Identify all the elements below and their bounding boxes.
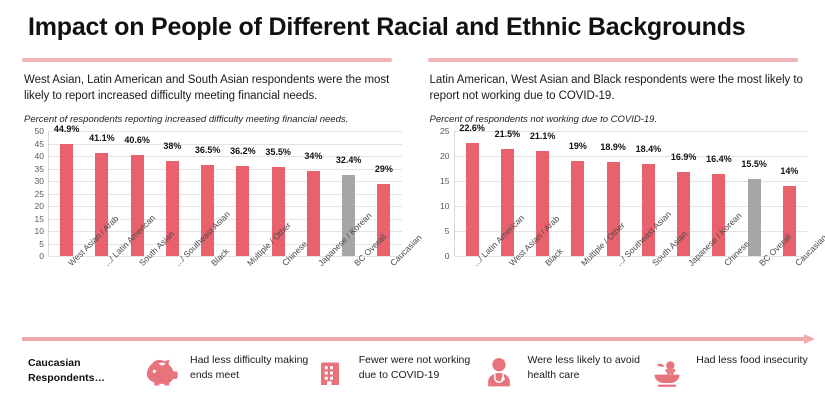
- bar-slot: 15.5%: [737, 131, 772, 256]
- y-axis-tick-right: 5: [445, 226, 450, 236]
- doctor-icon: [478, 352, 520, 394]
- arrow-line: [22, 337, 805, 341]
- bar-slot: 22.6%: [455, 131, 490, 256]
- bar-slot: 44.9%: [49, 131, 84, 256]
- x-label-slot: Latin American /...: [84, 256, 120, 318]
- page-title: Impact on People of Different Racial and…: [0, 0, 825, 42]
- y-axis-tick-left: 35: [35, 164, 44, 174]
- piggy-bank-icon: [140, 352, 182, 394]
- bar-value-label: 18.4%: [636, 144, 662, 154]
- x-label-slot: BC Overall: [740, 256, 776, 318]
- x-label-slot: West Asian / Arab: [489, 256, 525, 318]
- bar-value-label: 14%: [780, 166, 798, 176]
- bar-value-label: 36.5%: [195, 145, 221, 155]
- bar-value-label: 15.5%: [741, 159, 767, 169]
- footer-lead-label: Caucasian Respondents…: [28, 352, 140, 386]
- y-axis-tick-left: 0: [39, 251, 44, 261]
- bar-value-label: 34%: [304, 151, 322, 161]
- footer-item-text: Had less difficulty making ends meet: [190, 352, 309, 382]
- x-label-slot: South Asian: [120, 256, 156, 318]
- y-axis-tick-left: 15: [35, 214, 44, 224]
- bar-value-label: 38%: [163, 141, 181, 151]
- x-label-slot: Multiple / Other: [561, 256, 597, 318]
- arrow-head-icon: [804, 334, 815, 344]
- office-building-icon: [309, 352, 351, 394]
- panel-financial-difficulty: West Asian, Latin American and South Asi…: [14, 58, 406, 319]
- bar[interactable]: [307, 171, 320, 256]
- y-axis-tick-left: 30: [35, 176, 44, 186]
- y-axis-tick-right: 0: [445, 251, 450, 261]
- x-label-slot: Southeast Asian /...: [155, 256, 191, 318]
- footer-item-text: Had less food insecurity: [696, 352, 807, 368]
- x-label-slot: Black: [525, 256, 561, 318]
- bar-value-label: 19%: [569, 141, 587, 151]
- bar-value-label: 41.1%: [89, 133, 115, 143]
- x-label-slot: Chinese: [263, 256, 299, 318]
- y-axis-right: 0510152025: [430, 131, 452, 256]
- panel-subtitle: Percent of respondents reporting increas…: [24, 114, 400, 125]
- x-label-slot: Chinese: [704, 256, 740, 318]
- y-axis-tick-left: 45: [35, 139, 44, 149]
- panel-divider-rule: [22, 58, 392, 62]
- bar-value-label: 22.6%: [459, 123, 485, 133]
- charts-container: West Asian, Latin American and South Asi…: [0, 58, 825, 319]
- bar-slot: 19%: [560, 131, 595, 256]
- x-label-slot: Caucasian: [370, 256, 406, 318]
- x-label-slot: BC Overall: [334, 256, 370, 318]
- footer-item: Were less likely to avoid health care: [478, 352, 647, 394]
- x-label-slot: Japanese / Korean: [668, 256, 704, 318]
- footer-item: Had less difficulty making ends meet: [140, 352, 309, 394]
- panel-divider-rule: [428, 58, 798, 62]
- x-label-slot: Black: [191, 256, 227, 318]
- y-axis-left: 05101520253035404550: [24, 131, 46, 256]
- bar-value-label: 40.6%: [124, 135, 150, 145]
- panel-headline: West Asian, Latin American and South Asi…: [24, 72, 400, 105]
- bar-value-label: 44.9%: [54, 124, 80, 134]
- bar[interactable]: [60, 144, 73, 256]
- bar-value-label: 16.4%: [706, 154, 732, 164]
- bar[interactable]: [571, 161, 584, 256]
- bar-value-label: 21.1%: [530, 131, 556, 141]
- panel-subtitle: Percent of respondents not working due t…: [430, 114, 806, 125]
- bar-slot: 36.2%: [225, 131, 260, 256]
- y-axis-tick-left: 5: [39, 239, 44, 249]
- bar-slot: 34%: [296, 131, 331, 256]
- footer-item: Had less food insecurity: [646, 352, 815, 394]
- bar-value-label: 36.2%: [230, 146, 256, 156]
- bar-value-label: 21.5%: [495, 129, 521, 139]
- y-axis-tick-right: 25: [440, 126, 449, 136]
- y-axis-tick-left: 10: [35, 226, 44, 236]
- progress-arrow: [22, 334, 815, 344]
- x-label-slot: Caucasian: [775, 256, 811, 318]
- bar-value-label: 18.9%: [600, 142, 626, 152]
- bar[interactable]: [236, 166, 249, 257]
- bar-value-label: 16.9%: [671, 152, 697, 162]
- x-label-slot: Latin American /...: [454, 256, 490, 318]
- y-axis-tick-left: 40: [35, 151, 44, 161]
- y-axis-tick-right: 10: [440, 201, 449, 211]
- y-axis-tick-right: 20: [440, 151, 449, 161]
- y-axis-tick-left: 20: [35, 201, 44, 211]
- x-label-slot: Multiple / Other: [227, 256, 263, 318]
- footer-item-text: Fewer were not working due to COVID-19: [359, 352, 478, 382]
- footer-item-text: Were less likely to avoid health care: [528, 352, 647, 382]
- x-axis-labels-left: West Asian / ArabLatin American /...Sout…: [48, 256, 406, 318]
- footer-item: Fewer were not working due to COVID-19: [309, 352, 478, 394]
- y-axis-tick-right: 15: [440, 176, 449, 186]
- panel-not-working-covid: Latin American, West Asian and Black res…: [420, 58, 812, 319]
- bar-value-label: 32.4%: [336, 155, 362, 165]
- y-axis-tick-left: 50: [35, 126, 44, 136]
- bar[interactable]: [466, 143, 479, 256]
- bar-value-label: 35.5%: [265, 147, 291, 157]
- x-axis-labels-right: Latin American /...West Asian / ArabBlac…: [454, 256, 812, 318]
- x-label-slot: West Asian / Arab: [48, 256, 84, 318]
- footer-summary: Caucasian Respondents… Had less difficul…: [0, 346, 825, 413]
- x-label-slot: Japanese / Korean: [298, 256, 334, 318]
- panel-headline: Latin American, West Asian and Black res…: [430, 72, 806, 105]
- x-label-slot: South Asian: [632, 256, 668, 318]
- x-label-slot: Southeast Asian /...: [597, 256, 633, 318]
- bar-value-label: 29%: [375, 164, 393, 174]
- fruit-bowl-icon: [646, 352, 688, 394]
- bar-chart-not-working-covid: 0510152025 22.6%21.5%21.1%19%18.9%18.4%1…: [430, 131, 808, 256]
- y-axis-tick-left: 25: [35, 189, 44, 199]
